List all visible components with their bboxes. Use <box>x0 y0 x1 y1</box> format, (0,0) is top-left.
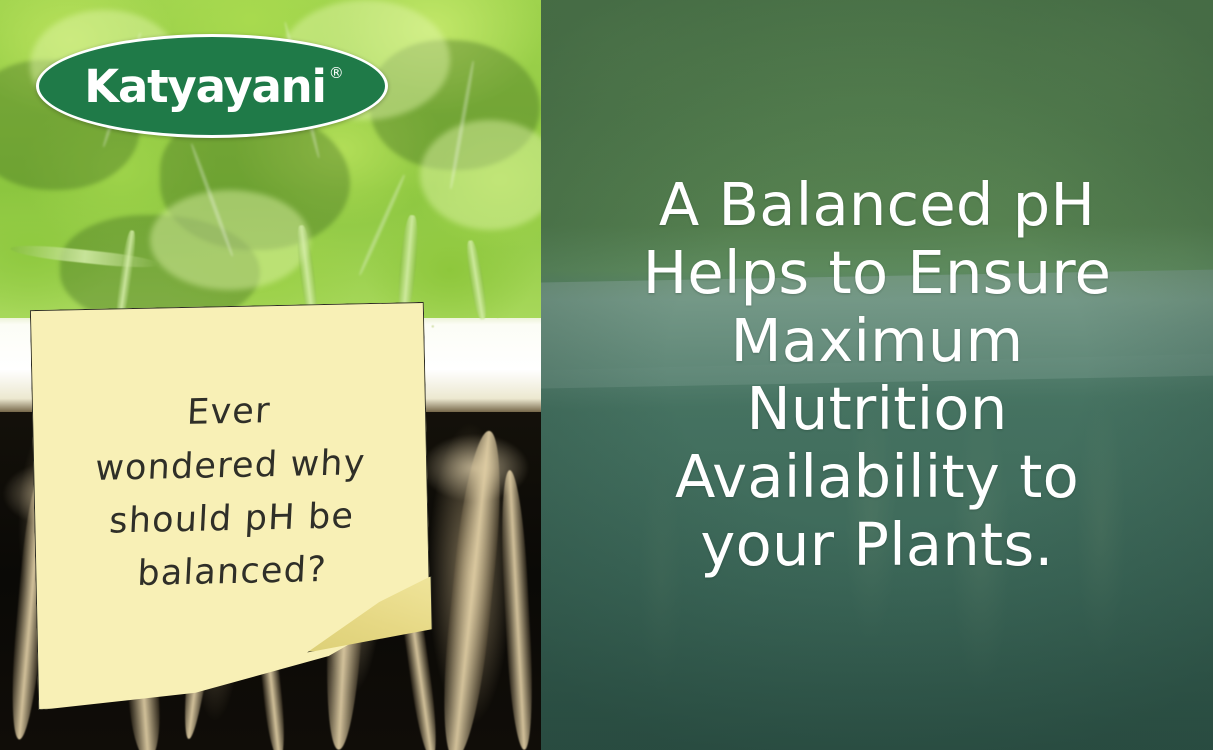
headline-line-1: A Balanced pH <box>659 171 1095 239</box>
note-line-4: balanced? <box>137 550 328 595</box>
leaf-highlight <box>420 120 541 230</box>
leaf-highlight <box>150 190 310 290</box>
registered-trademark-icon: ® <box>329 66 344 81</box>
sticky-note: Ever wondered why should pH be balanced? <box>30 302 432 710</box>
note-line-1: Ever <box>186 392 272 435</box>
headline-line-4: Nutrition <box>746 375 1007 443</box>
sticky-note-text: Ever wondered why should pH be balanced? <box>30 302 432 710</box>
poster-canvas: A Balanced pH Helps to Ensure Maximum Nu… <box>0 0 1213 750</box>
headline-block: A Balanced pH Helps to Ensure Maximum Nu… <box>541 0 1213 750</box>
katyayani-logo[interactable]: Katyayani ® <box>36 34 388 138</box>
headline-line-6: your Plants. <box>700 511 1053 579</box>
leaf-vein <box>358 174 406 276</box>
logo-brand-name: Katyayani <box>84 60 325 113</box>
note-line-2: wondered why <box>94 443 366 490</box>
headline-line-3: Maximum <box>731 307 1024 375</box>
logo-wordmark: Katyayani ® <box>84 64 339 109</box>
note-line-3: should pH be <box>108 496 355 542</box>
headline-line-5: Availability to <box>675 443 1079 511</box>
headline-line-2: Helps to Ensure <box>643 239 1112 307</box>
